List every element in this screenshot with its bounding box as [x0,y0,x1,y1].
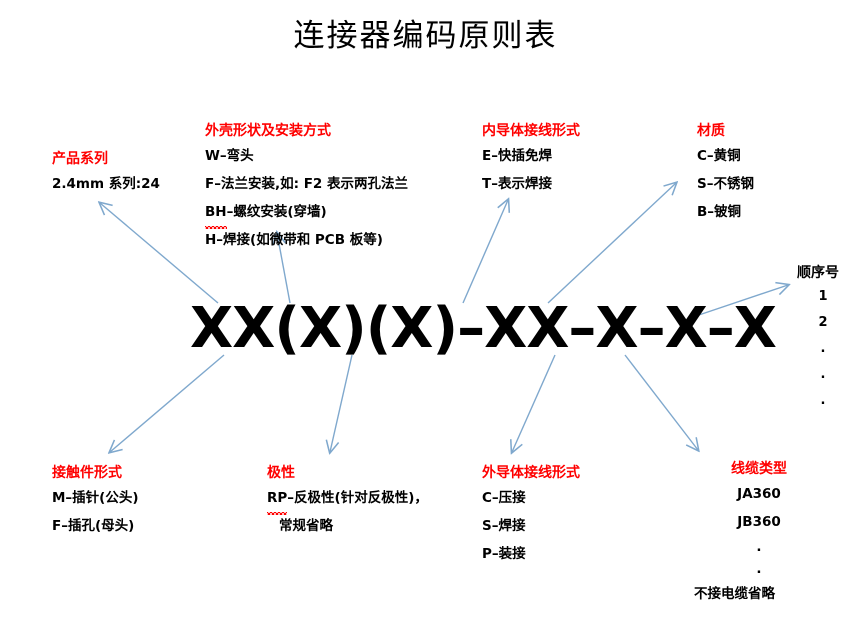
outer-conductor-line-2: P–装接 [482,540,580,568]
sequence-number-heading: 顺序号 [797,262,849,284]
shell-shape-line-1: F–法兰安装,如: F2 表示两孔法兰 [205,170,408,198]
polarity-squiggle: RP [267,484,287,512]
inner-conductor-line-1: T–表示焊接 [482,170,580,198]
inner-conductor-line-0: E–快插免焊 [482,142,580,170]
arrow-to-outer-conductor [512,355,555,452]
sequence-number-line-4: . [797,388,849,414]
polarity-line-0: RP–反极性(针对反极性)， [267,484,428,512]
block-polarity: 极性 RP–反极性(针对反极性)， 常规省略 [267,462,428,540]
shell-shape-line-2-rest: –螺纹安装(穿墙) [227,204,327,220]
cable-type-line-2: . [694,536,824,558]
contact-type-line-1: F–插孔(母头) [52,512,139,540]
outer-conductor-heading: 外导体接线形式 [482,462,580,484]
contact-type-line-0: M–插针(公头) [52,484,139,512]
shell-shape-line-3: H–焊接(如微带和 PCB 板等) [205,226,408,254]
cable-type-line-4: 不接电缆省略 [694,580,824,608]
arrow-to-product-series [100,203,218,303]
material-line-0: C–黄铜 [697,142,754,170]
arrow-to-contact-type [110,355,224,452]
outer-conductor-line-0: C–压接 [482,484,580,512]
block-material: 材质 C–黄铜 S–不锈钢 B–铍铜 [697,120,754,226]
block-inner-conductor-termination: 内导体接线形式 E–快插免焊 T–表示焊接 [482,120,580,198]
cable-type-heading: 线缆类型 [694,458,824,480]
sequence-number-line-2: . [797,336,849,362]
inner-conductor-heading: 内导体接线形式 [482,120,580,142]
sequence-number-line-1: 2 [797,310,849,336]
block-outer-conductor-termination: 外导体接线形式 C–压接 S–焊接 P–装接 [482,462,580,568]
shell-shape-heading: 外壳形状及安装方式 [205,120,408,142]
block-contact-type: 接触件形式 M–插针(公头) F–插孔(母头) [52,462,139,540]
shell-shape-squiggle: BH [205,198,227,226]
cable-type-line-3: . [694,558,824,580]
material-heading: 材质 [697,120,754,142]
cable-type-line-0: JA360 [694,480,824,508]
product-series-heading: 产品系列 [52,148,160,170]
outer-conductor-line-1: S–焊接 [482,512,580,540]
shell-shape-line-0: W–弯头 [205,142,408,170]
arrow-to-material [548,183,676,303]
diagram-canvas: 连接器编码原则表 产品系列 2.4mm 系列:24 外壳形状及安装方式 W–弯头… [0,0,851,621]
arrow-to-inner-conductor [463,200,508,303]
sequence-number-line-3: . [797,362,849,388]
polarity-line-0-rest: –反极性(针对反极性)， [287,490,428,506]
product-series-line-0: 2.4mm 系列:24 [52,170,160,198]
block-sequence-number: 顺序号 1 2 . . . [797,262,849,414]
shell-shape-line-2: BH–螺纹安装(穿墙) [205,198,408,226]
material-line-2: B–铍铜 [697,198,754,226]
material-line-1: S–不锈钢 [697,170,754,198]
sequence-number-line-0: 1 [797,284,849,310]
sequence-number-values: 1 2 . . . [797,284,849,414]
block-product-series: 产品系列 2.4mm 系列:24 [52,148,160,198]
connector-code-string: XX(X)(X)–XX–X–X–X [190,296,776,361]
polarity-heading: 极性 [267,462,428,484]
block-cable-type: 线缆类型 JA360 JB360 . . 不接电缆省略 [694,458,824,608]
contact-type-heading: 接触件形式 [52,462,139,484]
block-shell-shape-mounting: 外壳形状及安装方式 W–弯头 F–法兰安装,如: F2 表示两孔法兰 BH–螺纹… [205,120,408,254]
arrow-to-polarity [330,355,352,452]
polarity-line-1: 常规省略 [267,512,428,540]
cable-type-line-1: JB360 [694,508,824,536]
arrow-to-cable-type [625,355,698,450]
page-title: 连接器编码原则表 [0,10,851,55]
